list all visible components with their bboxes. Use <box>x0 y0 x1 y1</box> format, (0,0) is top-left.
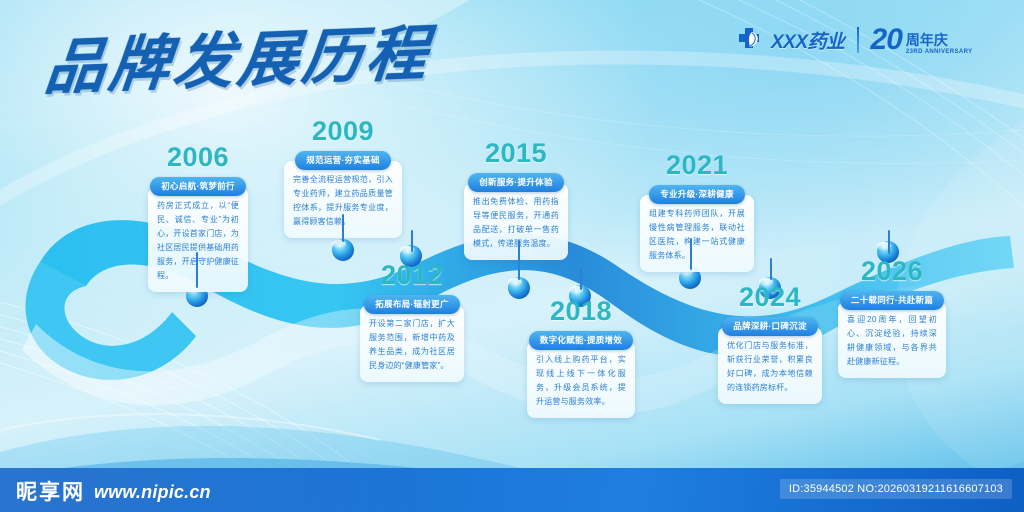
node-stem-2012 <box>411 230 413 252</box>
watermark-url: www.nipic.cn <box>94 482 211 503</box>
node-body: 喜迎20周年，回望初心、沉淀经验，持续深耕健康领域，与各界共赴健康新征程。 <box>838 301 946 378</box>
node-stem-2018 <box>580 268 582 290</box>
node-badge: 创新服务·提升体验 <box>468 173 564 192</box>
node-badge: 专业升级·深耕健康 <box>649 185 745 204</box>
node-badge: 规范运营·夯实基础 <box>295 151 391 170</box>
node-body: 优化门店与服务标准，斩获行业荣誉，积累良好口碑，成为本地信赖的连锁药房标杆。 <box>718 327 822 404</box>
logo-divider <box>857 27 859 53</box>
node-year: 2018 <box>527 298 635 325</box>
anniversary-block: 20 周年庆 23RD ANNIVERSARY <box>871 26 973 55</box>
node-body: 推出免费体检、用药指导等便民服务，开通药品配送，打破单一售药模式，传递服务温度。 <box>464 183 568 260</box>
timeline-node-2021[interactable]: 2021 专业升级·深耕健康 组建专科药师团队，开展慢性病管理服务，联动社区医院… <box>640 152 754 272</box>
node-badge: 初心启航·筑梦前行 <box>150 177 246 196</box>
node-stem-2021 <box>690 238 692 270</box>
timeline-node-2015[interactable]: 2015 创新服务·提升体验 推出免费体检、用药指导等便民服务，开通药品配送，打… <box>464 140 568 260</box>
node-stem-2015 <box>518 240 520 280</box>
poster-canvas: XXX药业 20 周年庆 23RD ANNIVERSARY 品牌发展历程 200… <box>0 0 1024 512</box>
timeline-node-2018[interactable]: 2018 数字化赋能·提质增效 引入线上购药平台，实现线上线下一体化服务，升级会… <box>527 298 635 418</box>
timeline-node-2006[interactable]: 2006 初心启航·筑梦前行 药房正式成立，以“便民、诚信、专业”为初心，开设首… <box>148 144 248 292</box>
watermark-cn: 昵享网 <box>16 482 85 503</box>
id-badge: ID:35944502 NO:20260319211616607103 <box>780 479 1012 499</box>
node-year: 2009 <box>284 118 402 145</box>
brand-name: XXX药业 <box>771 27 845 54</box>
node-year: 2012 <box>360 262 464 289</box>
node-stem-2024 <box>770 258 772 280</box>
anniversary-en: 23RD ANNIVERSARY <box>906 49 973 55</box>
node-year: 2006 <box>148 144 248 171</box>
node-year: 2015 <box>464 140 568 167</box>
node-body: 药房正式成立，以“便民、诚信、专业”为初心，开设首家门店，为社区居民提供基础用药… <box>148 187 248 292</box>
node-year: 2026 <box>838 258 946 285</box>
node-stem-2026 <box>888 230 890 254</box>
node-body: 组建专科药师团队，开展慢性病管理服务，联动社区医院，构建一站式健康服务体系。 <box>640 195 754 272</box>
cross-leaf-icon <box>735 26 763 54</box>
timeline-node-2024[interactable]: 2024 品牌深耕·口碑沉淀 优化门店与服务标准，斩获行业荣誉，积累良好口碑，成… <box>718 284 822 404</box>
node-stem-2006 <box>196 252 198 288</box>
anniversary-cn: 周年庆 <box>906 33 948 48</box>
node-year: 2024 <box>718 284 822 311</box>
brand-logo: XXX药业 20 周年庆 23RD ANNIVERSARY <box>735 26 973 55</box>
node-body: 开设第二家门店，扩大服务范围，新增中药及养生品类，成为社区居民身边的“健康管家”… <box>360 305 464 382</box>
node-badge: 数字化赋能·提质增效 <box>529 331 633 350</box>
anniversary-number: 20 <box>871 26 902 55</box>
node-year: 2021 <box>640 152 754 179</box>
watermark: 昵享网 www.nipic.cn <box>16 482 211 503</box>
node-badge: 品牌深耕·口碑沉淀 <box>722 317 818 336</box>
node-body: 引入线上购药平台，实现线上线下一体化服务，升级会员系统，提升运营与服务效率。 <box>527 341 635 418</box>
node-badge: 二十载同行·共赴新篇 <box>840 291 944 310</box>
timeline-node-2026[interactable]: 2026 二十载同行·共赴新篇 喜迎20周年，回望初心、沉淀经验，持续深耕健康领… <box>838 258 946 378</box>
timeline-node-2012[interactable]: 2012 拓展布局·辐射更广 开设第二家门店，扩大服务范围，新增中药及养生品类，… <box>360 262 464 382</box>
node-badge: 拓展布局·辐射更广 <box>364 295 460 314</box>
footer-bar: 昵享网 www.nipic.cn ID:35944502 NO:20260319… <box>0 468 1024 512</box>
node-stem-2009 <box>342 214 344 242</box>
